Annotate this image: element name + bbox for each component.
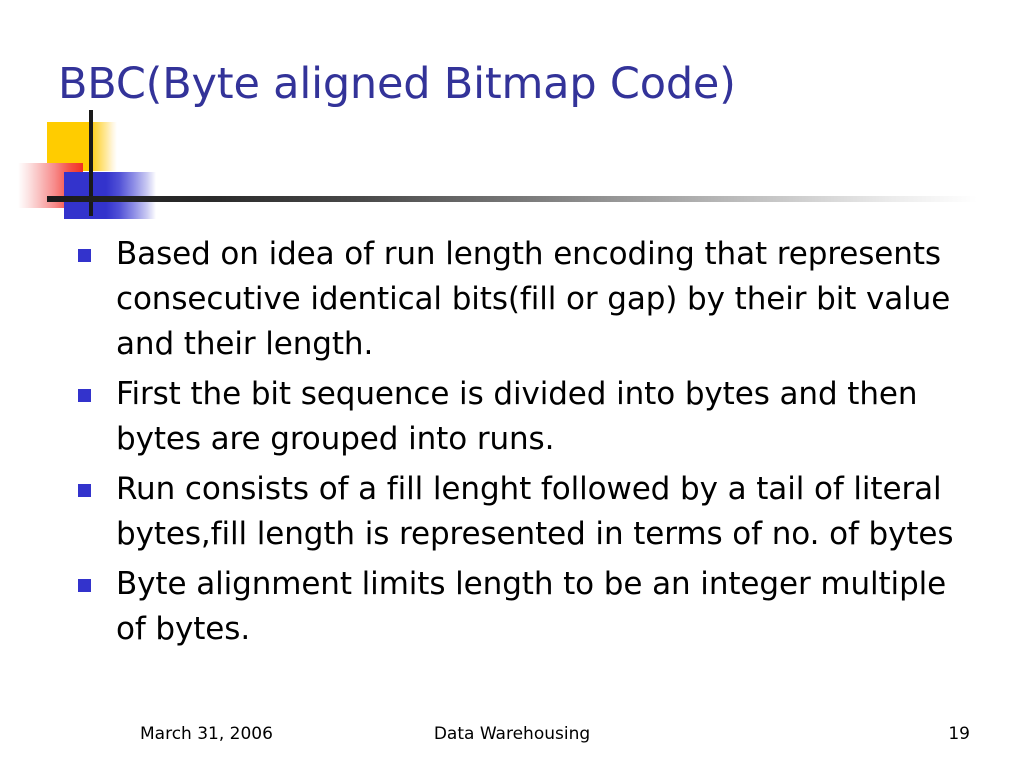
list-item: Based on idea of run length encoding tha… [74,232,964,367]
vertical-rule-icon [89,110,93,216]
list-item-text: Based on idea of run length encoding tha… [116,232,964,367]
horizontal-rule-divider [47,196,977,202]
list-item-text: Run consists of a fill lenght followed b… [116,467,964,557]
yellow-square-icon [47,122,117,171]
red-square-icon [18,163,83,208]
list-item: First the bit sequence is divided into b… [74,372,964,462]
list-item-text: First the bit sequence is divided into b… [116,372,964,462]
footer-page-number: 19 [948,722,970,746]
bullet-list: Based on idea of run length encoding tha… [74,232,964,657]
slide: BBC(Byte aligned Bitmap Code) Based on i… [0,0,1024,768]
blue-square-icon [64,172,156,219]
list-item-text: Byte alignment limits length to be an in… [116,562,964,652]
footer-title: Data Warehousing [0,722,1024,746]
list-item: Run consists of a fill lenght followed b… [74,467,964,557]
list-item: Byte alignment limits length to be an in… [74,562,964,652]
bullet-square-icon [78,579,91,592]
bullet-square-icon [78,389,91,402]
bullet-square-icon [78,249,91,262]
page-title: BBC(Byte aligned Bitmap Code) [58,58,978,110]
design-accent-graphic [0,0,1024,230]
slide-footer: March 31, 2006 Data Warehousing 19 [0,722,1024,752]
bullet-square-icon [78,484,91,497]
